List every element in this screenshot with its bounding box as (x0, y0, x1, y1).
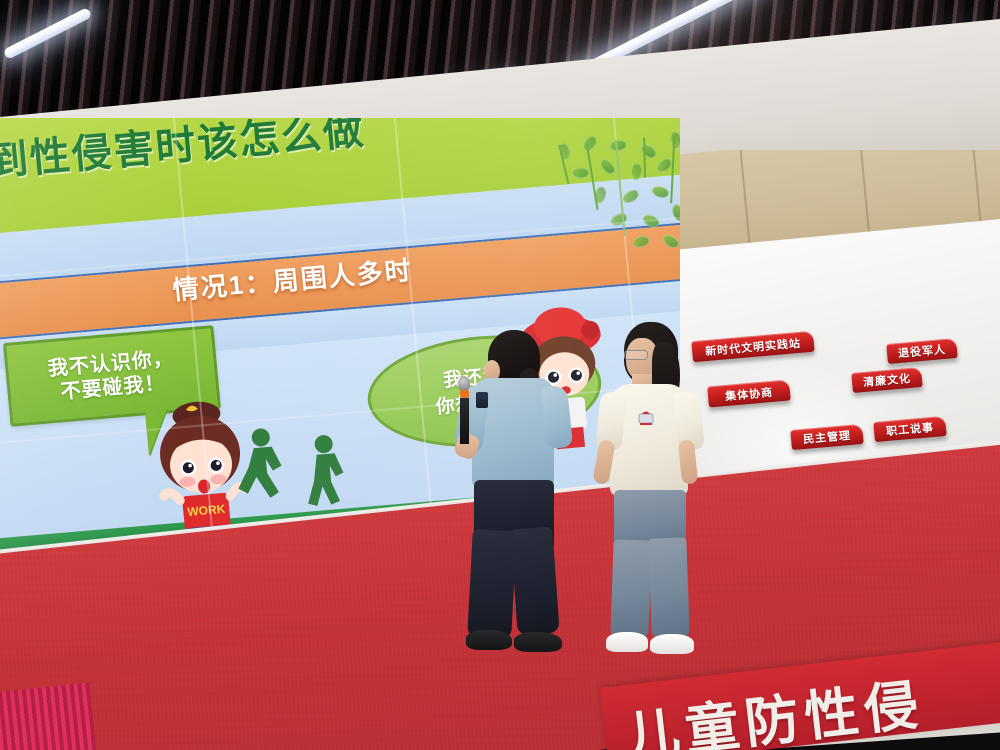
girl-jeans-left (610, 539, 651, 638)
stage-skirt (0, 682, 97, 750)
wall-plaque-label: 新时代文明实践站 (704, 334, 801, 358)
eyeglasses-icon (624, 350, 648, 360)
wall-plaque-label: 清廉文化 (862, 370, 911, 390)
stage-presentation-photo: 新时代文明实践站退役军人清廉文化集体协商民主管理职工说事产业工人建设劳模工匠巾帼… (0, 0, 1000, 750)
microphone-band-icon (460, 390, 469, 398)
leaf-icon (629, 163, 643, 182)
leaf-icon (571, 166, 589, 179)
wall-plaque-label: 退役军人 (897, 341, 946, 361)
wall-plaque-label: 集体协商 (724, 383, 773, 403)
microphone-body-icon (460, 398, 469, 444)
leaf-icon (670, 132, 680, 150)
girl-jeans-right (648, 537, 689, 638)
leaf-icon (580, 134, 600, 154)
kid-silhouette-group-icon (230, 413, 388, 520)
police-officer-presenter (452, 330, 592, 660)
wall-plaque-label: 职工说事 (885, 419, 934, 439)
leaf-icon (609, 212, 628, 227)
twig-icon (586, 143, 598, 210)
linear-led-1-icon (3, 7, 93, 60)
leaf-icon (639, 141, 659, 161)
girl-sneaker-right (650, 634, 694, 654)
leaf-icon (632, 235, 650, 248)
leaf-icon (650, 184, 670, 201)
leaf-icon (661, 232, 680, 251)
leaf-decoration (543, 125, 680, 270)
wall-plaque-label: 民主管理 (802, 427, 851, 447)
officer-right-sleeve (541, 385, 573, 449)
officer-trouser-left (467, 529, 517, 639)
leaf-icon (621, 188, 641, 205)
tshirt-logo-icon (636, 408, 656, 428)
leaf-icon (598, 156, 617, 176)
girl-sneaker-left (606, 632, 648, 652)
leaf-icon (609, 140, 626, 151)
student-participant (596, 322, 716, 658)
officer-shoe-right (514, 632, 562, 652)
officer-shoulder-patch-icon (476, 392, 488, 408)
officer-shoe-left (466, 630, 512, 650)
officer-trouser-right (510, 527, 559, 636)
